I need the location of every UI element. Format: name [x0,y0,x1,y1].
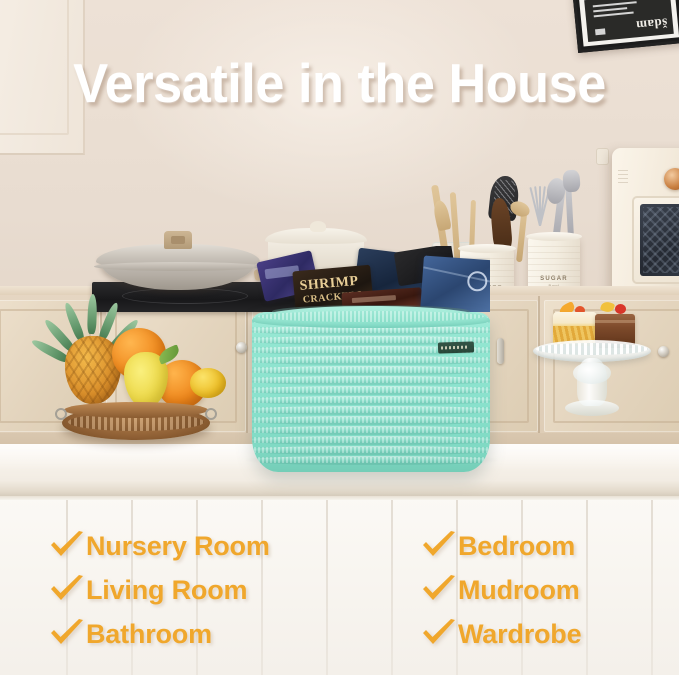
oven-dial [664,168,679,190]
tray-handle [205,408,217,420]
check-icon [48,575,86,605]
basket-body [252,312,490,472]
tray-handle [55,408,67,420]
feature-checklist: Nursery Room Living Room Bathroom Be [0,524,679,664]
check-icon [48,619,86,649]
counter-edge [0,480,679,496]
feature-label: Nursery Room [86,531,270,562]
check-icon [48,531,86,561]
poster-artwork: šdam [584,0,674,42]
oven-glass [640,204,679,276]
lemon-fruit [190,368,226,398]
poster-mat: šdam [579,0,679,46]
oven-vent [618,170,628,186]
spatula-blade [432,199,452,231]
feature-label: Wardrobe [458,619,581,650]
cabinet-knob[interactable] [236,342,247,353]
feature-item-wardrobe: Wardrobe [420,612,581,656]
cake-garnish [600,300,615,314]
poster-word: šdam [635,14,668,33]
toaster-oven [612,148,679,296]
check-icon [420,531,458,561]
wall-socket [596,148,609,165]
masher-head [562,169,580,192]
feature-column-right: Bedroom Mudroom Wardrobe [420,524,581,656]
feature-label: Bedroom [458,531,575,562]
cake-stand [533,300,651,432]
rope-storage-basket [252,300,490,472]
check-icon [420,575,458,605]
sugar-canister-label: SUGAR [528,276,580,282]
basket-brand-tag [438,341,474,353]
pan-lid-knob [164,231,192,249]
feature-item-bedroom: Bedroom [420,524,581,568]
cake-garnish [615,304,626,314]
cake-stand-foot [565,400,619,416]
feature-column-left: Nursery Room Living Room Bathroom [48,524,270,656]
fruit-tray [62,388,210,440]
feature-item-bathroom: Bathroom [48,612,270,656]
basket-rim [252,306,490,328]
oven-door [632,196,679,284]
page-title: Versatile in the House [17,56,662,111]
feature-item-nursery-room: Nursery Room [48,524,270,568]
check-icon [420,619,458,649]
feature-label: Living Room [86,575,247,606]
cabinet-handle[interactable] [497,338,504,364]
feature-item-living-room: Living Room [48,568,270,612]
feature-label: Bathroom [86,619,212,650]
feature-item-mudroom: Mudroom [420,568,581,612]
frying-pan [96,238,261,290]
cabinet-knob[interactable] [658,346,669,357]
product-marketing-image: šdam COFFEE Bean [0,0,679,675]
blue-bag-seal [467,271,488,292]
feature-label: Mudroom [458,575,580,606]
